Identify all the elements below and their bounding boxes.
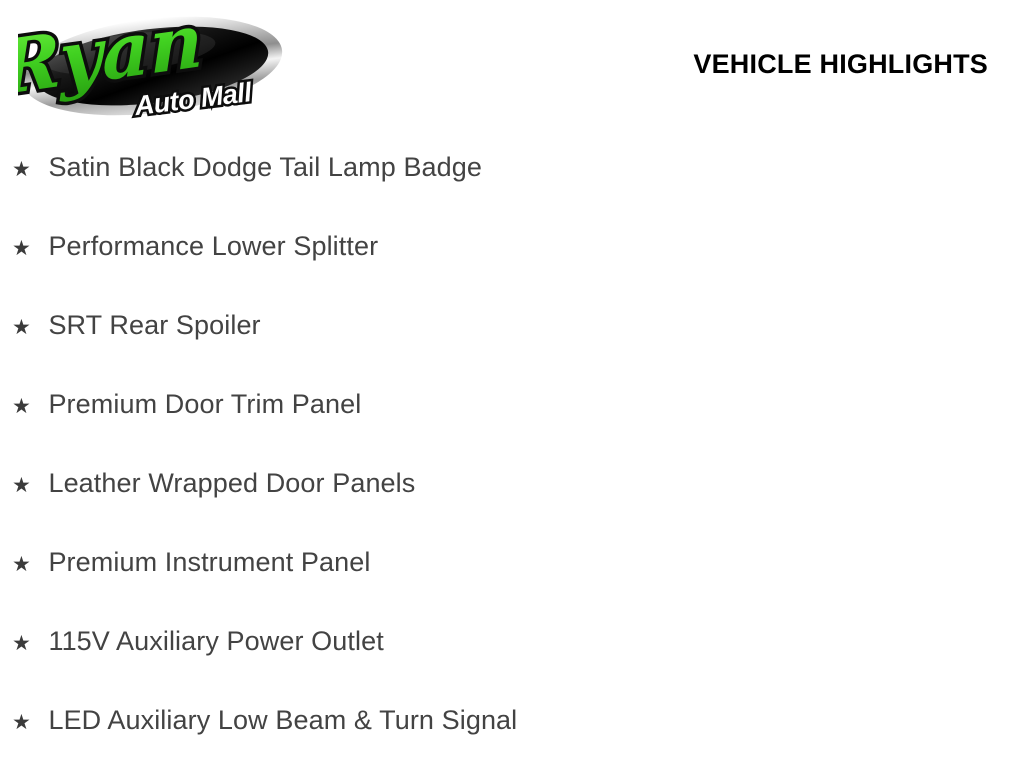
star-icon: ★ [12, 288, 44, 367]
page-header: Ryan Auto Mall VEHICLE HIGHLIGHTS [0, 0, 1024, 128]
ryan-auto-mall-logo[interactable]: Ryan Auto Mall [18, 4, 286, 122]
list-item: ★ Premium Instrument Panel [0, 523, 1024, 602]
star-icon: ★ [12, 683, 44, 762]
star-icon: ★ [12, 130, 44, 209]
highlight-label: Performance Lower Splitter [48, 207, 378, 286]
list-item: ★ Premium Door Trim Panel [0, 365, 1024, 444]
vehicle-highlights-list: ★ Satin Black Dodge Tail Lamp Badge ★ Pe… [0, 128, 1024, 760]
star-icon: ★ [12, 604, 44, 683]
highlight-label: SRT Rear Spoiler [48, 286, 260, 365]
highlight-label: 115V Auxiliary Power Outlet [48, 602, 383, 681]
list-item: ★ Leather Wrapped Door Panels [0, 444, 1024, 523]
list-item: ★ 115V Auxiliary Power Outlet [0, 602, 1024, 681]
star-icon: ★ [12, 367, 44, 446]
highlight-label: Premium Door Trim Panel [48, 365, 361, 444]
list-item: ★ Satin Black Dodge Tail Lamp Badge [0, 128, 1024, 207]
vehicle-highlights-page: Ryan Auto Mall VEHICLE HIGHLIGHTS ★ Sati… [0, 0, 1024, 768]
list-item: ★ Performance Lower Splitter [0, 207, 1024, 286]
list-item: ★ LED Auxiliary Low Beam & Turn Signal [0, 681, 1024, 760]
list-item: ★ SRT Rear Spoiler [0, 286, 1024, 365]
highlight-label: Leather Wrapped Door Panels [48, 444, 415, 523]
star-icon: ★ [12, 525, 44, 604]
star-icon: ★ [12, 209, 44, 288]
star-icon: ★ [12, 446, 44, 525]
highlight-label: LED Auxiliary Low Beam & Turn Signal [48, 681, 517, 760]
highlight-label: Satin Black Dodge Tail Lamp Badge [48, 128, 482, 207]
highlight-label: Premium Instrument Panel [48, 523, 370, 602]
page-title: VEHICLE HIGHLIGHTS [693, 49, 988, 80]
